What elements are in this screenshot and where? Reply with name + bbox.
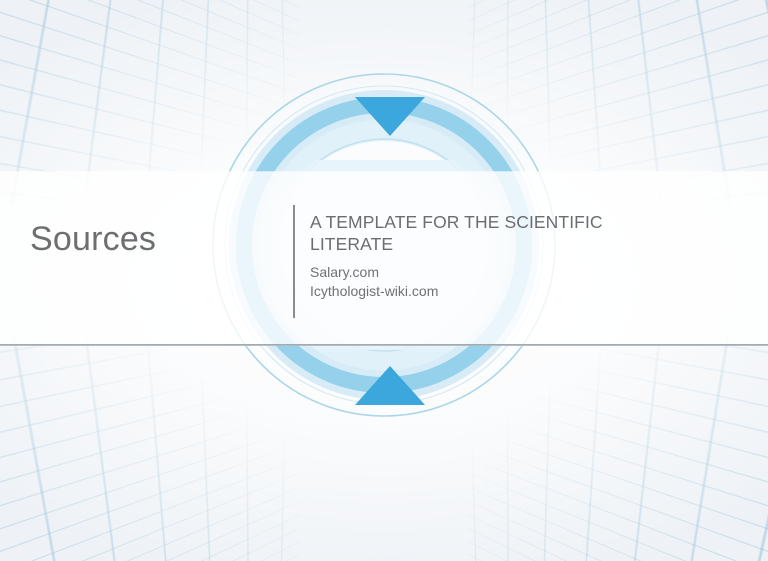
page-title: Sources	[30, 220, 156, 259]
text-divider	[293, 205, 295, 318]
source-item-1: Icythologist-wiki.com	[310, 282, 640, 301]
headline-text: A TEMPLATE FOR THE SCIENTIFIC LITERATE	[310, 211, 640, 255]
slide-canvas: Sources A TEMPLATE FOR THE SCIENTIFIC LI…	[0, 0, 768, 561]
source-text-block: A TEMPLATE FOR THE SCIENTIFIC LITERATE S…	[310, 211, 640, 300]
horizontal-rule	[0, 344, 768, 346]
source-item-0: Salary.com	[310, 263, 640, 282]
